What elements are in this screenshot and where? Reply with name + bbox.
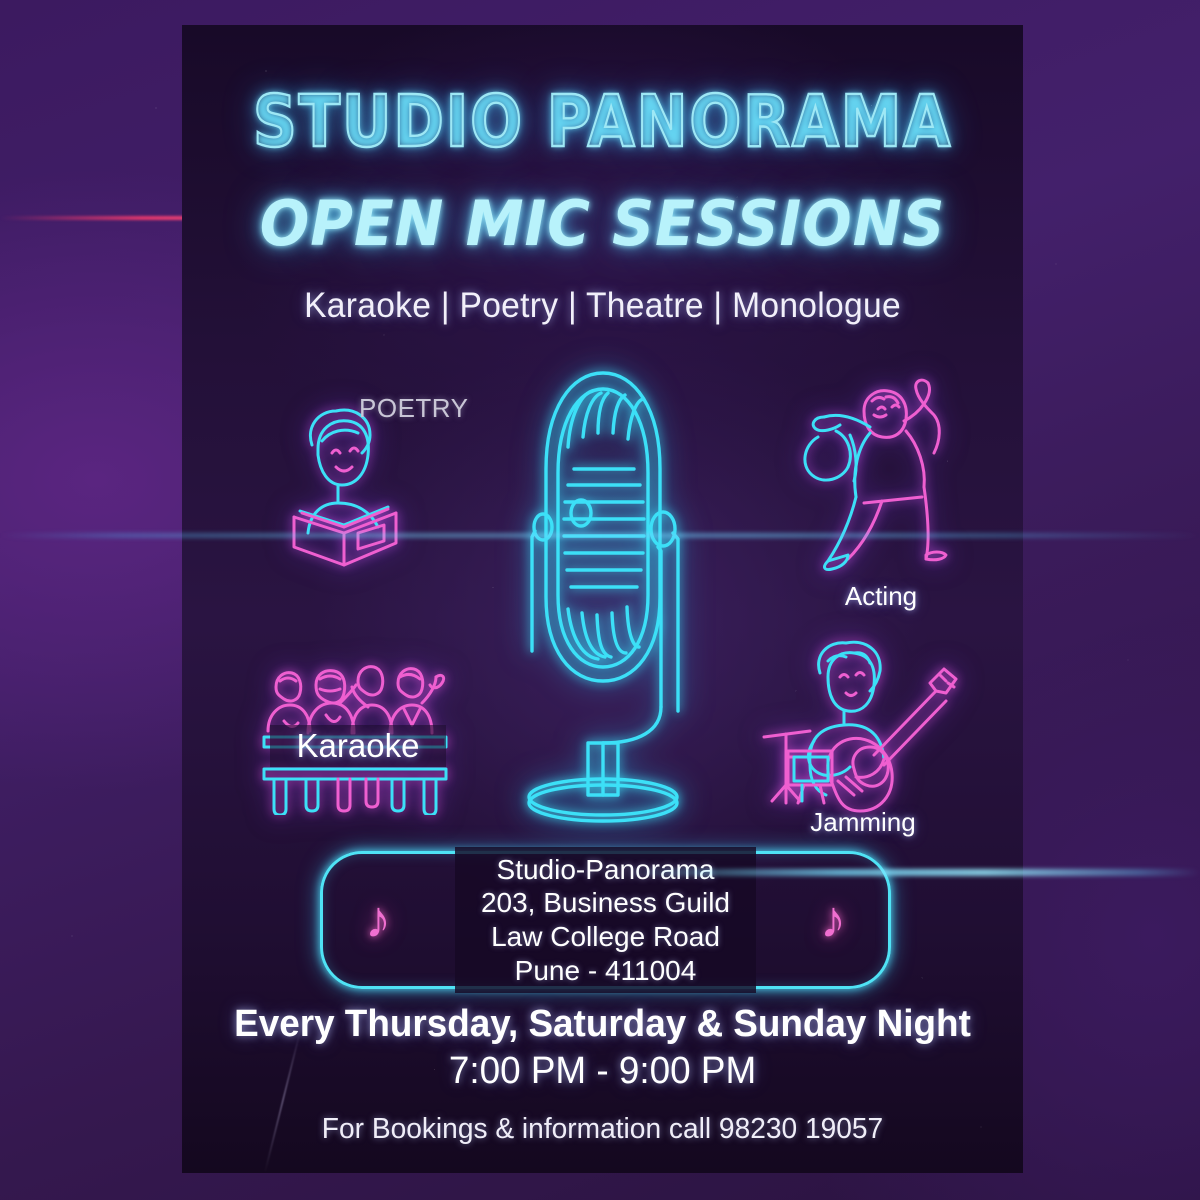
- contact-block: For Bookings & information call 98230 19…: [182, 1113, 1023, 1146]
- address-line-3: Law College Road: [481, 920, 730, 954]
- contact-line: For Bookings & information call 98230 19…: [195, 1113, 1011, 1146]
- poster-tagline-row: Karaoke | Poetry | Theatre | Monologue: [182, 286, 1023, 326]
- schedule-time: 7:00 PM - 9:00 PM: [195, 1050, 1011, 1093]
- poster-stage: STUDIO PANORAMA OPEN MIC SESSIONS Karaok…: [0, 0, 1200, 1200]
- acting-icon: [786, 375, 976, 575]
- schedule-block: Every Thursday, Saturday & Sunday Night …: [182, 1003, 1023, 1093]
- address-line-1: Studio-Panorama: [481, 853, 730, 887]
- event-poster: STUDIO PANORAMA OPEN MIC SESSIONS Karaok…: [182, 25, 1023, 1173]
- acting-icon-label: Acting: [786, 581, 976, 612]
- karaoke-icon-label: Karaoke: [270, 725, 446, 767]
- address-line-2: 203, Business Guild: [481, 886, 730, 920]
- jamming-icon: [758, 633, 968, 833]
- poster-title-row: STUDIO PANORAMA: [182, 80, 1023, 163]
- address-panel: ♪ Studio-Panorama 203, Business Guild La…: [320, 851, 891, 989]
- poster-subtitle: OPEN MIC SESSIONS: [207, 187, 998, 260]
- retro-microphone-icon: [488, 351, 718, 831]
- address-line-4: Pune - 411004: [481, 954, 730, 988]
- poetry-icon-label: POETRY: [359, 393, 468, 424]
- poster-title: STUDIO PANORAMA: [241, 80, 964, 163]
- music-note-right-icon: ♪: [820, 894, 846, 946]
- address-text: Studio-Panorama 203, Business Guild Law …: [455, 847, 756, 993]
- poster-tagline: Karaoke | Poetry | Theatre | Monologue: [199, 286, 1006, 326]
- poster-subtitle-row: OPEN MIC SESSIONS: [182, 187, 1023, 260]
- jamming-icon-label: Jamming: [758, 807, 968, 838]
- schedule-days: Every Thursday, Saturday & Sunday Night: [195, 1003, 1011, 1046]
- music-note-left-icon: ♪: [365, 894, 391, 946]
